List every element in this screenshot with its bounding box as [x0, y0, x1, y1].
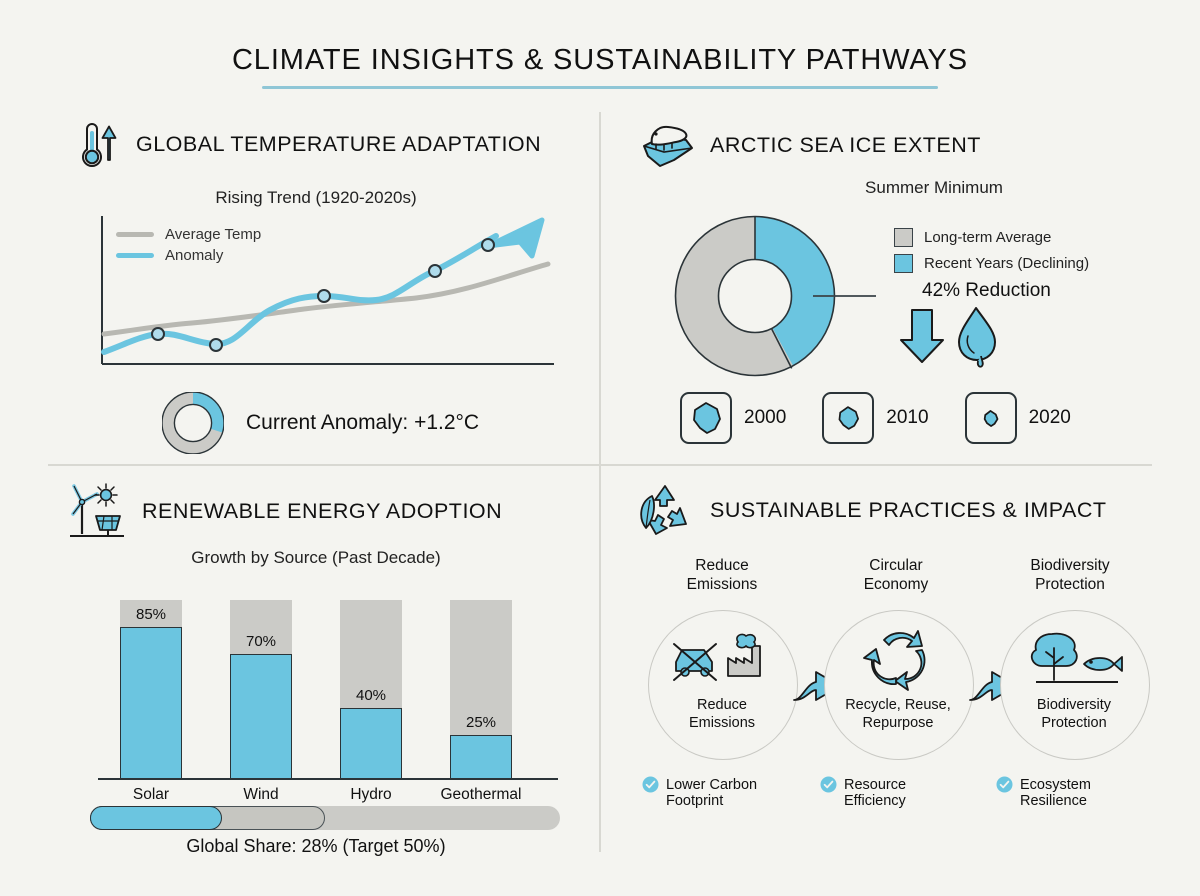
check-item-lower-carbon-footprint: Lower Carbon Footprint: [642, 776, 810, 809]
bar-value-solar: 85%: [120, 606, 182, 623]
check-label-line1: Ecosystem: [1020, 777, 1091, 793]
title-underline: [262, 86, 938, 89]
legend-swatch-average-temp: [116, 232, 154, 237]
check-label-line2: Footprint: [642, 793, 810, 809]
reduction-callout: 42% Reduction: [922, 280, 1051, 302]
panel-header-practices: SUSTAINABLE PRACTICES & IMPACT: [634, 480, 1164, 540]
check-label-line1: Lower Carbon: [666, 777, 757, 793]
legend-label-average-temp: Average Temp: [165, 226, 261, 243]
step-heading-reduce-emissions: Reduce Emissions: [642, 556, 802, 594]
anomaly-donut-chart: [162, 392, 224, 454]
polar-bear-iceberg-icon: [634, 116, 696, 174]
step-caption-line1: Biodiversity: [1000, 696, 1148, 714]
legend-item-recent-years: Recent Years (Declining): [894, 254, 1089, 273]
panel-subtitle-temperature: Rising Trend (1920-2020s): [66, 188, 566, 208]
year-item-2020: 2020: [965, 392, 1071, 444]
step-headings: Reduce Emissions Circular Economy Biodiv…: [634, 556, 1164, 602]
horizontal-divider: [48, 464, 1152, 466]
decline-icons: [898, 306, 1018, 368]
bar-fill-solar: [120, 627, 182, 780]
year-label-2020: 2020: [1029, 407, 1071, 429]
bar-label-wind: Wind: [206, 786, 316, 804]
ice-card-2010: [822, 392, 874, 444]
ice-floe-icon: [980, 408, 1001, 429]
panel-subtitle-arctic: Summer Minimum: [774, 178, 1094, 198]
check-row: Lower Carbon: [642, 776, 810, 793]
bar-fill-hydro: [340, 708, 402, 780]
panel-arctic-sea-ice: ARCTIC SEA ICE EXTENT Summer Minimum Lon…: [634, 116, 1154, 456]
legend-label-anomaly: Anomaly: [165, 247, 223, 264]
down-arrow-icon: [901, 310, 943, 362]
legend-item-long-term-average: Long-term Average: [894, 228, 1089, 247]
check-item-ecosystem-resilience: Ecosystem Resilience: [996, 776, 1164, 809]
panel-title-practices: SUSTAINABLE PRACTICES & IMPACT: [710, 498, 1107, 523]
legend-item-average-temp: Average Temp: [116, 226, 261, 243]
ice-card-2000: [680, 392, 732, 444]
panel-title-renewable: RENEWABLE ENERGY ADOPTION: [142, 499, 502, 524]
ice-floe-icon: [834, 404, 862, 432]
infographic-page: CLIMATE INSIGHTS & SUSTAINABILITY PATHWA…: [0, 0, 1200, 896]
bar-value-geothermal: 25%: [450, 714, 512, 731]
bar-value-hydro: 40%: [340, 687, 402, 704]
bar-label-solar: Solar: [96, 786, 206, 804]
panel-subtitle-renewable: Growth by Source (Past Decade): [66, 548, 566, 568]
legend-label-long-term-average: Long-term Average: [924, 229, 1051, 246]
legend-swatch-recent-years: [894, 254, 913, 273]
year-item-2000: 2000: [680, 392, 786, 444]
check-circle-icon: [996, 776, 1013, 793]
step-caption-line1: Reduce: [648, 696, 796, 714]
step-heading-line2: Economy: [816, 575, 976, 594]
step-caption-line2: Emissions: [648, 714, 796, 732]
step-caption-line1: Recycle, Reuse,: [820, 696, 976, 714]
legend-arctic: Long-term Average Recent Years (Declinin…: [894, 228, 1089, 280]
check-label-line2: Resilience: [996, 793, 1164, 809]
step-heading-line1: Reduce: [642, 556, 802, 575]
bar-label-hydro: Hydro: [316, 786, 426, 804]
legend-item-anomaly: Anomaly: [116, 247, 261, 264]
panel-header-arctic: ARCTIC SEA ICE EXTENT: [634, 116, 1154, 174]
thermometer-up-icon: [66, 116, 122, 172]
step-caption-line2: Repurpose: [820, 714, 976, 732]
panel-title-arctic: ARCTIC SEA ICE EXTENT: [710, 133, 981, 158]
check-circle-icon: [642, 776, 659, 793]
year-comparison-row: 2000 2010 2020: [680, 392, 1071, 444]
step-heading-line1: Biodiversity: [990, 556, 1150, 575]
arctic-donut-chart: [670, 212, 880, 382]
check-row: Resource: [820, 776, 988, 793]
vertical-divider: [599, 112, 601, 852]
no-car-factory-icon: [672, 632, 772, 690]
ice-floe-icon: [688, 400, 724, 436]
check-row: Ecosystem: [996, 776, 1164, 793]
bar-chart-axis: [98, 778, 558, 780]
step-heading-circular-economy: Circular Economy: [816, 556, 976, 594]
ice-card-2020: [965, 392, 1017, 444]
tree-fish-icon: [1026, 628, 1124, 692]
check-label-line1: Resource: [844, 777, 906, 793]
step-caption-reduce-emissions: Reduce Emissions: [648, 696, 796, 732]
year-item-2010: 2010: [822, 392, 928, 444]
check-label-line2: Efficiency: [820, 793, 988, 809]
panel-sustainable-practices: SUSTAINABLE PRACTICES & IMPACT Reduce Em…: [634, 480, 1164, 860]
global-share-progress-bar[interactable]: [90, 806, 560, 830]
legend-temperature: Average Temp Anomaly: [116, 226, 261, 268]
recycle-leaf-icon: [634, 480, 696, 540]
step-caption-circular-economy: Recycle, Reuse, Repurpose: [820, 696, 976, 732]
bar-fill-geothermal: [450, 735, 512, 780]
panel-header-renewable: RENEWABLE ENERGY ADOPTION: [66, 480, 586, 542]
step-caption-biodiversity-protection: Biodiversity Protection: [1000, 696, 1148, 732]
wind-solar-icon: [66, 480, 128, 542]
process-steps: Reduce Emissions Recycle, Reuse, Repurpo…: [634, 610, 1164, 760]
bar-category-labels: Solar Wind Hydro Geothermal: [98, 786, 558, 806]
bar-fill-wind: [230, 654, 292, 780]
step-caption-line2: Protection: [1000, 714, 1148, 732]
legend-swatch-anomaly: [116, 253, 154, 258]
legend-swatch-long-term-average: [894, 228, 913, 247]
progress-caption: Global Share: 28% (Target 50%): [66, 836, 566, 857]
anomaly-summary: Current Anomaly: +1.2°C: [162, 392, 479, 454]
check-circle-icon: [820, 776, 837, 793]
page-title: CLIMATE INSIGHTS & SUSTAINABILITY PATHWA…: [0, 44, 1200, 77]
panel-renewable-energy: RENEWABLE ENERGY ADOPTION Growth by Sour…: [66, 480, 586, 860]
panel-title-temperature: GLOBAL TEMPERATURE ADAPTATION: [136, 132, 541, 157]
panel-header-temperature: GLOBAL TEMPERATURE ADAPTATION: [66, 116, 586, 172]
benefit-checklist: Lower Carbon Footprint Resource Efficien…: [634, 776, 1164, 826]
year-label-2000: 2000: [744, 407, 786, 429]
bar-label-geothermal: Geothermal: [426, 786, 536, 804]
melting-drop-icon: [959, 308, 995, 367]
progress-fill: [90, 806, 222, 830]
renewable-bar-chart: 85% 70% 40% 25%: [98, 584, 558, 780]
panel-global-temperature: GLOBAL TEMPERATURE ADAPTATION Rising Tre…: [66, 116, 586, 456]
step-heading-biodiversity-protection: Biodiversity Protection: [990, 556, 1150, 594]
step-heading-line1: Circular: [816, 556, 976, 575]
anomaly-label: Current Anomaly: +1.2°C: [246, 411, 479, 435]
bar-value-wind: 70%: [230, 633, 292, 650]
legend-label-recent-years: Recent Years (Declining): [924, 255, 1089, 272]
step-heading-line2: Protection: [990, 575, 1150, 594]
check-item-resource-efficiency: Resource Efficiency: [820, 776, 988, 809]
circular-arrows-icon: [862, 626, 934, 692]
step-heading-line2: Emissions: [642, 575, 802, 594]
year-label-2010: 2010: [886, 407, 928, 429]
